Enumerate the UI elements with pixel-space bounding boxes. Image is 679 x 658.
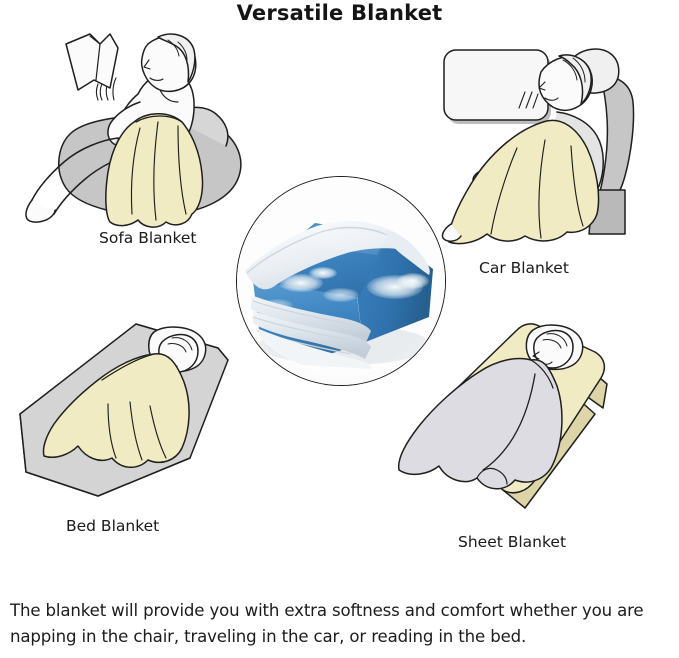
product-infographic: Versatile Blanket	[0, 0, 679, 658]
label-car-blanket: Car Blanket	[479, 259, 569, 277]
product-photo-circle	[236, 176, 446, 386]
label-sheet-blanket: Sheet Blanket	[458, 533, 566, 551]
illustration-car-blanket	[425, 30, 675, 252]
label-bed-blanket: Bed Blanket	[66, 517, 159, 535]
illustration-sofa-blanket	[18, 22, 290, 224]
label-sofa-blanket: Sofa Blanket	[99, 229, 197, 247]
illustration-bed-blanket	[4, 318, 272, 508]
product-caption: The blanket will provide you with extra …	[10, 598, 672, 650]
